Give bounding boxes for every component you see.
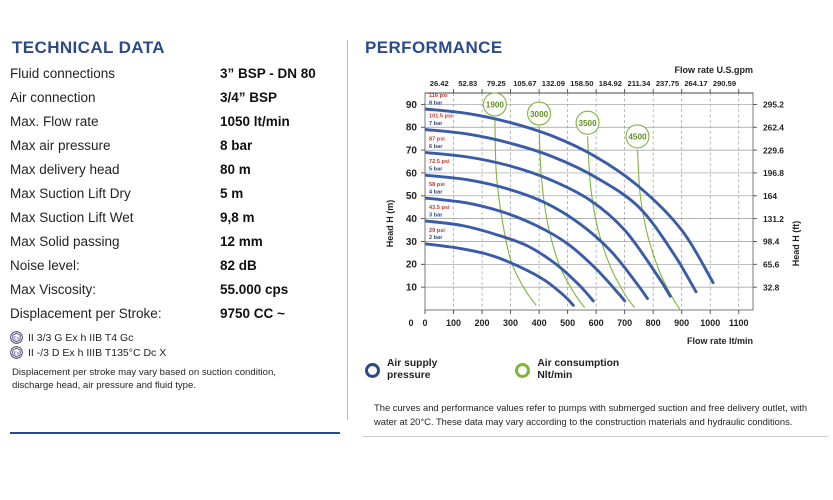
spec-label: Max Suction Lift Wet — [10, 211, 220, 225]
technical-data-title: TECHNICAL DATA — [12, 38, 340, 58]
chart-top-tick-label: 237.75 — [656, 79, 680, 88]
displacement-note: Displacement per stroke may vary based o… — [12, 366, 312, 392]
left-bottom-rule — [10, 432, 340, 434]
curve-label-bar: 2 bar — [429, 235, 443, 241]
curve-label-psi: 58 psi — [429, 182, 445, 188]
spec-value: 3/4” BSP — [220, 91, 277, 105]
spec-label: Noise level: — [10, 259, 220, 273]
chart-ytick-right-label: 196.8 — [763, 168, 784, 178]
chart-ytick-label: 80 — [406, 123, 418, 134]
spec-row: Max delivery head80 m — [10, 163, 340, 177]
spec-row: Max. Flow rate1050 lt/min — [10, 115, 340, 129]
spec-row: Noise level:82 dB — [10, 259, 340, 273]
technical-data-panel: TECHNICAL DATA Fluid connections3” BSP -… — [10, 38, 340, 392]
spec-value: 80 m — [220, 163, 251, 177]
curve-label-bar: 8 bar — [429, 100, 443, 106]
chart-ytick-label: 20 — [406, 260, 418, 271]
curve-label-psi: 87 psi — [429, 136, 445, 142]
air-consumption-bubble-label: 4500 — [628, 133, 647, 142]
chart-top-tick-label: 79.25 — [487, 79, 507, 88]
chart-ytick-label: 90 — [406, 100, 418, 111]
atex-row: ExII 3/3 G Ex h IIB T4 Gc — [10, 331, 340, 344]
column-divider — [347, 40, 348, 420]
chart-ytick-right-label: 262.4 — [763, 122, 784, 132]
chart-ytick-right-label: 32.8 — [763, 282, 780, 292]
curve-label-bar: 5 bar — [429, 167, 443, 173]
curve-label-psi: 43.5 psi — [429, 205, 450, 211]
chart-xtick-label: 500 — [560, 318, 575, 328]
chart-ytick-right-label: 65.6 — [763, 260, 780, 270]
spec-row: Max air pressure8 bar — [10, 139, 340, 153]
chart-ytick-label: 10 — [406, 283, 418, 294]
spec-label: Fluid connections — [10, 67, 220, 81]
chart-y-axis-title-right: Head H (ft) — [791, 221, 801, 267]
spec-row: Max Suction Lift Dry5 m — [10, 187, 340, 201]
performance-title: PERFORMANCE — [365, 38, 828, 58]
spec-row: Max Suction Lift Wet9,8 m — [10, 211, 340, 225]
legend-air-supply-line1: Air supply — [387, 358, 437, 369]
spec-row: Max Solid passing12 mm — [10, 235, 340, 249]
air-consumption-bubble-label: 1900 — [486, 101, 505, 110]
legend-marker-green-ring-icon — [515, 363, 530, 378]
chart-ytick-label: 60 — [406, 168, 418, 179]
chart-ytick-right-label: 295.2 — [763, 100, 784, 110]
bottom-rule — [363, 436, 828, 437]
chart-top-axis-title: Flow rate U.S.gpm — [674, 65, 753, 75]
chart-y-axis-title: Head H (m) — [385, 200, 395, 248]
chart-xtick-label-zero: 0 — [408, 318, 413, 328]
chart-ytick-label: 70 — [406, 146, 418, 157]
spec-label: Max Suction Lift Dry — [10, 187, 220, 201]
chart-top-tick-label: 105.67 — [513, 79, 536, 88]
chart-xtick-label: 900 — [674, 318, 689, 328]
spec-value: 12 mm — [220, 235, 263, 249]
chart-x-axis-title: Flow rate lt/min — [687, 336, 753, 346]
specification-list: Fluid connections3” BSP - DN 80Air conne… — [10, 67, 340, 321]
spec-value: 8 bar — [220, 139, 252, 153]
curve-label-bar: 4 bar — [429, 189, 443, 195]
svg-text:Ex: Ex — [14, 335, 20, 340]
svg-text:Ex: Ex — [14, 350, 20, 355]
spec-label: Max air pressure — [10, 139, 220, 153]
atex-marking-list: ExII 3/3 G Ex h IIB T4 GcExII -/3 D Ex h… — [10, 331, 340, 359]
chart-xtick-label: 200 — [475, 318, 490, 328]
spec-label: Max Solid passing — [10, 235, 220, 249]
spec-row: Air connection3/4” BSP — [10, 91, 340, 105]
air-consumption-bubble: 3000 — [528, 102, 551, 125]
air-consumption-bubble: 4500 — [626, 125, 649, 148]
legend-air-supply-line2: pressure — [387, 370, 431, 381]
legend-marker-blue-ring-icon — [365, 363, 380, 378]
air-consumption-bubble-label: 3000 — [530, 110, 549, 119]
legend-air-consumption-line1: Air consumption — [537, 358, 619, 369]
curve-label-bar: 6 bar — [429, 144, 443, 150]
spec-label: Displacement per Stroke: — [10, 307, 220, 321]
atex-row: ExII -/3 D Ex h IIIB T135°C Dc X — [10, 346, 340, 359]
legend-label-air-consumption: Air consumption Nlt/min — [537, 358, 619, 382]
chart-top-tick-label: 290.59 — [713, 79, 736, 88]
chart-xtick-label: 100 — [446, 318, 461, 328]
legend-air-consumption-line2: Nlt/min — [537, 370, 572, 381]
spec-value: 55.000 cps — [220, 283, 288, 297]
atex-marking-text: II 3/3 G Ex h IIB T4 Gc — [28, 332, 133, 344]
spec-row: Displacement per Stroke:9750 CC ~ — [10, 307, 340, 321]
chart-xtick-label: 800 — [646, 318, 661, 328]
air-consumption-bubble: 1900 — [483, 93, 506, 116]
chart-xtick-label: 0 — [422, 318, 427, 328]
air-consumption-bubble: 3500 — [576, 111, 599, 134]
chart-top-tick-label: 52.83 — [458, 79, 477, 88]
chart-xtick-label: 1000 — [700, 318, 720, 328]
atex-marking-text: II -/3 D Ex h IIIB T135°C Dc X — [28, 347, 166, 359]
curve-label-bar: 7 bar — [429, 121, 443, 127]
spec-value: 82 dB — [220, 259, 257, 273]
chart-ytick-label: 30 — [406, 237, 418, 248]
curve-label-psi: 29 psi — [429, 228, 445, 234]
chart-xtick-label: 400 — [532, 318, 547, 328]
atex-ex-hexagon-icon: Ex — [10, 346, 23, 359]
curve-label-psi: 116 psi — [429, 93, 448, 99]
chart-xtick-label: 700 — [617, 318, 632, 328]
spec-value: 5 m — [220, 187, 243, 201]
spec-value: 9,8 m — [220, 211, 255, 225]
chart-xtick-label: 600 — [589, 318, 604, 328]
curve-label-bar: 3 bar — [429, 212, 443, 218]
chart-legend: Air supply pressure Air consumption Nlt/… — [365, 358, 619, 382]
chart-ytick-right-label: 229.6 — [763, 145, 784, 155]
chart-top-tick-label: 132.09 — [542, 79, 565, 88]
chart-ytick-right-label: 131.2 — [763, 214, 784, 224]
spec-value: 9750 CC ~ — [220, 307, 285, 321]
chart-ytick-label: 50 — [406, 191, 418, 202]
spec-value: 1050 lt/min — [220, 115, 290, 129]
atex-ex-hexagon-icon: Ex — [10, 331, 23, 344]
curve-label-psi: 72.5 psi — [429, 159, 450, 165]
legend-item-air-consumption: Air consumption Nlt/min — [515, 358, 619, 382]
chart-ytick-label: 40 — [406, 214, 418, 225]
chart-ytick-right-label: 164 — [763, 191, 777, 201]
spec-label: Max Viscosity: — [10, 283, 220, 297]
curve-label-psi: 101.5 psi — [429, 114, 453, 120]
chart-xtick-label: 1100 — [729, 318, 749, 328]
chart-top-tick-label: 264.17 — [684, 79, 707, 88]
chart-ytick-right-label: 98.4 — [763, 237, 780, 247]
performance-chart-svg: 010020030040050060070080090010001100026.… — [363, 60, 833, 360]
performance-footnote: The curves and performance values refer … — [374, 401, 826, 428]
chart-top-tick-label: 26.42 — [430, 79, 449, 88]
chart-xtick-label: 300 — [503, 318, 518, 328]
performance-chart: 010020030040050060070080090010001100026.… — [363, 60, 833, 360]
datasheet-page: TECHNICAL DATA Fluid connections3” BSP -… — [0, 0, 833, 500]
spec-label: Air connection — [10, 91, 220, 105]
spec-label: Max delivery head — [10, 163, 220, 177]
chart-top-tick-label: 211.34 — [628, 79, 652, 88]
legend-item-air-supply-pressure: Air supply pressure — [365, 358, 437, 382]
spec-row: Fluid connections3” BSP - DN 80 — [10, 67, 340, 81]
spec-row: Max Viscosity:55.000 cps — [10, 283, 340, 297]
spec-label: Max. Flow rate — [10, 115, 220, 129]
air-consumption-bubble-label: 3500 — [578, 119, 597, 128]
spec-value: 3” BSP - DN 80 — [220, 67, 316, 81]
chart-top-tick-label: 184.92 — [599, 79, 622, 88]
chart-top-tick-label: 158.50 — [570, 79, 593, 88]
legend-label-air-supply: Air supply pressure — [387, 358, 437, 382]
